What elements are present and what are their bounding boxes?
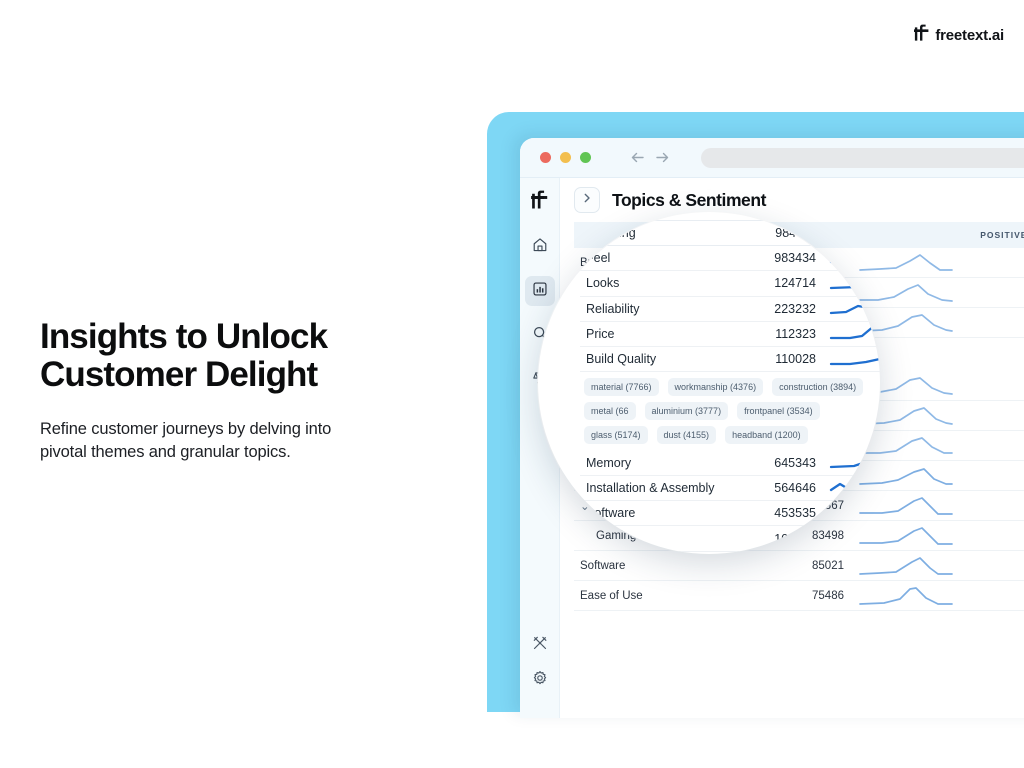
- gear-icon: [532, 670, 548, 691]
- cell-count: 110028: [730, 352, 816, 366]
- magnified-row[interactable]: Memory 106958: [580, 526, 880, 551]
- cell-topic: Software: [574, 560, 764, 572]
- page-title: Insights to Unlock Customer Delight: [40, 318, 440, 394]
- sparkline-icon: [816, 476, 880, 499]
- cell-count: 564646: [730, 481, 816, 495]
- poster-canvas: freetext.ai Insights to Unlock Customer …: [0, 0, 1024, 768]
- page-header: Topics & Sentiment: [560, 178, 1024, 222]
- magnified-row[interactable]: Looks 124714: [580, 271, 880, 296]
- expand-sidebar-button[interactable]: [574, 187, 600, 213]
- brand-logo: freetext.ai: [914, 24, 1004, 46]
- sidebar-item-home[interactable]: [525, 232, 555, 262]
- cell-positive: 64224: [954, 470, 1024, 482]
- subtopic-chip[interactable]: aluminium (3777): [645, 402, 729, 420]
- subtopic-chip[interactable]: construction (3894): [772, 378, 863, 396]
- sparkline-icon: [844, 556, 954, 576]
- magnified-row[interactable]: Reliability 223232: [580, 297, 880, 322]
- subtopic-chip[interactable]: frontpanel (3534): [737, 402, 820, 420]
- traffic-lights: [540, 152, 591, 163]
- magnified-row[interactable]: Installation & A...: [580, 552, 880, 554]
- hero-subhead: Refine customer journeys by delving into…: [40, 418, 440, 465]
- subtopic-chip[interactable]: dust (4155): [657, 426, 717, 444]
- subtopic-chip[interactable]: workmanship (4376): [668, 378, 764, 396]
- col-head-positive: POSITIVE COUNT: [954, 230, 1024, 240]
- cell-topic: Ease of Use: [574, 590, 764, 602]
- magnified-row[interactable]: Memory 645343: [580, 450, 880, 475]
- magnified-row[interactable]: Installation & Assembly 564646: [580, 476, 880, 501]
- browser-nav: [629, 149, 671, 166]
- table-row[interactable]: Ease of Use 75486 63601: [574, 581, 1024, 611]
- sidebar-item-tools[interactable]: [525, 630, 555, 660]
- chart-icon: [532, 281, 548, 302]
- subtopic-chip[interactable]: material (7766): [584, 378, 659, 396]
- minimize-icon[interactable]: [560, 152, 571, 163]
- sparkline-icon: [816, 297, 880, 320]
- cell-count: 453535: [730, 506, 816, 520]
- maximize-icon[interactable]: [580, 152, 591, 163]
- cell-count: 112323: [730, 327, 816, 341]
- sidebar-logo-icon[interactable]: [531, 190, 548, 214]
- cell-positive: 68129: [954, 380, 1024, 392]
- magnified-chip-list: material (7766) workmanship (4376) const…: [580, 372, 880, 450]
- sidebar-item-settings[interactable]: [525, 674, 555, 704]
- cell-count: 124714: [730, 276, 816, 290]
- headline-line-2: Customer Delight: [40, 355, 317, 394]
- sparkline-icon: [816, 323, 880, 346]
- cell-positive: 69064: [954, 440, 1024, 452]
- subtopic-chip[interactable]: headband (1200): [725, 426, 808, 444]
- cell-count: 983434: [730, 251, 816, 265]
- home-icon: [532, 237, 548, 258]
- cell-count: 984344: [731, 226, 817, 240]
- magnified-row[interactable]: Build Quality 110028: [580, 347, 880, 372]
- cell-topic: Looks: [580, 276, 730, 290]
- cell-count: 223232: [730, 302, 816, 316]
- chevron-right-icon: [581, 191, 593, 209]
- cell-count: 645343: [730, 456, 816, 470]
- magnified-row[interactable]: Zeething 984344: [580, 220, 880, 246]
- magnified-row[interactable]: Feel 983434: [580, 246, 880, 271]
- subhead-line-1: Refine customer journeys by delving into: [40, 420, 331, 438]
- cell-topic: Software: [580, 506, 730, 520]
- cell-positive: 92624: [954, 287, 1024, 299]
- sidebar-item-analytics[interactable]: [525, 276, 555, 306]
- headline-line-1: Insights to Unlock: [40, 317, 327, 356]
- sparkline-icon: [816, 272, 880, 295]
- url-input[interactable]: [701, 148, 1024, 168]
- cell-topic: Reliability: [580, 302, 730, 316]
- cell-topic: Build Quality: [580, 352, 730, 366]
- table-row[interactable]: Software 85021 40736: [574, 551, 1024, 581]
- sparkline-icon: [816, 527, 880, 550]
- sparkline-icon: [816, 348, 880, 371]
- cell-count: 75486: [764, 590, 844, 602]
- cell-positive: 63601: [954, 590, 1024, 602]
- cell-positive: 59490: [954, 530, 1024, 542]
- cell-topic: Price: [580, 327, 730, 341]
- arrow-right-icon[interactable]: [654, 149, 671, 166]
- magnified-table: Zeething 984344 Feel 983434 Looks 124714: [580, 220, 880, 554]
- ft-logo-icon: [914, 24, 929, 46]
- arrow-left-icon[interactable]: [629, 149, 646, 166]
- browser-titlebar: [520, 138, 1024, 178]
- brand-name: freetext.ai: [935, 27, 1004, 44]
- magnifier-lens: Zeething 984344 Feel 983434 Looks 124714: [538, 212, 880, 554]
- close-icon[interactable]: [540, 152, 551, 163]
- cell-count: 106958: [730, 532, 816, 546]
- cell-topic: Installation & Assembly: [580, 481, 730, 495]
- sparkline-icon: [816, 451, 880, 474]
- magnified-row[interactable]: Software 453535: [580, 501, 880, 526]
- subhead-line-2: pivotal themes and granular topics.: [40, 443, 291, 461]
- subtopic-chip[interactable]: glass (5174): [584, 426, 648, 444]
- tools-icon: [532, 635, 548, 656]
- cell-count: 85021: [764, 560, 844, 572]
- cell-topic: Feel: [580, 251, 730, 265]
- magnified-row[interactable]: Price 112323: [580, 322, 880, 347]
- sparkline-icon: [817, 222, 880, 245]
- cell-positive: 66243: [954, 257, 1024, 269]
- cell-topic: Memory: [580, 456, 730, 470]
- sparkline-icon: [816, 247, 880, 270]
- cell-positive: 40736: [954, 560, 1024, 572]
- cell-positive: 65258: [954, 410, 1024, 422]
- cell-topic: Memory: [580, 532, 730, 546]
- sparkline-icon: [844, 586, 954, 606]
- section-title: Topics & Sentiment: [612, 190, 766, 211]
- cell-positive: 65270: [954, 317, 1024, 329]
- hero-copy: Insights to Unlock Customer Delight Refi…: [40, 318, 440, 464]
- cell-positive: 61008: [954, 500, 1024, 512]
- cell-topic: Zeething: [581, 226, 731, 240]
- sparkline-icon: [816, 502, 880, 525]
- subtopic-chip[interactable]: metal (66: [584, 402, 636, 420]
